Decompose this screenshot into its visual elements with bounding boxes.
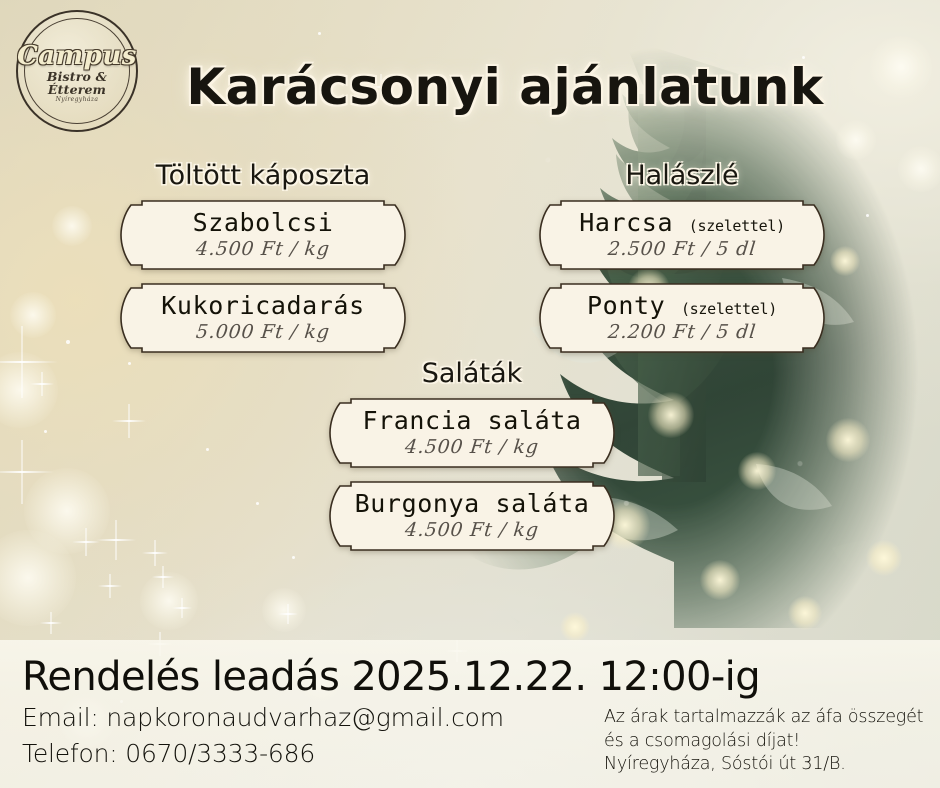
page-title: Karácsonyi ajánlatunk xyxy=(0,58,940,116)
dish-name: Szabolcsi xyxy=(193,210,334,236)
card-content: Burgonya saláta 4.500 Ft / kg xyxy=(327,479,617,553)
dish-name: Francia saláta xyxy=(362,408,581,434)
dish-price: 2.500 Ft / 5 dl xyxy=(607,238,757,260)
dish-suffix: (szelettel) xyxy=(681,300,777,318)
contact-phone[interactable]: Telefon: 0670/3333-686 xyxy=(22,739,315,768)
card-content: Ponty (szelettel) 2.200 Ft / 5 dl xyxy=(537,281,827,355)
dish-suffix: (szelettel) xyxy=(689,217,785,235)
footer: Rendelés leadás 2025.12.22. 12:00-ig Ema… xyxy=(0,640,940,788)
dish-name: Harcsa xyxy=(579,208,673,237)
dish-price: 4.500 Ft / kg xyxy=(404,519,540,541)
section-heading-halaszle: Halászlé xyxy=(537,160,827,191)
menu-card[interactable]: Ponty (szelettel) 2.200 Ft / 5 dl xyxy=(537,281,827,355)
price-note-line2: és a csomagolási díjat! xyxy=(604,730,923,754)
dish-name: Burgonya saláta xyxy=(355,491,590,517)
card-content: Szabolcsi 4.500 Ft / kg xyxy=(118,198,408,272)
menu-card[interactable]: Burgonya saláta 4.500 Ft / kg xyxy=(327,479,617,553)
card-content: Francia saláta 4.500 Ft / kg xyxy=(327,396,617,470)
section-heading-toltott-kaposzta: Töltött káposzta xyxy=(118,160,408,191)
dish-price: 2.200 Ft / 5 dl xyxy=(607,321,757,343)
dish-name-row: Ponty (szelettel) xyxy=(587,293,777,319)
price-note-line1: Az árak tartalmazzák az áfa összegét xyxy=(604,706,923,730)
menu-card[interactable]: Kukoricadarás 5.000 Ft / kg xyxy=(118,281,408,355)
dish-price: 4.500 Ft / kg xyxy=(195,238,331,260)
dish-name: Ponty xyxy=(587,291,665,320)
dish-name-row: Harcsa (szelettel) xyxy=(579,210,785,236)
card-content: Kukoricadarás 5.000 Ft / kg xyxy=(118,281,408,355)
section-heading-salatak: Saláták xyxy=(327,358,617,389)
christmas-menu-poster: Campus Bistro & Étterem Nyíregyháza Kará… xyxy=(0,0,940,788)
address-line: Nyíregyháza, Sóstói út 31/B. xyxy=(604,753,923,777)
card-content: Harcsa (szelettel) 2.500 Ft / 5 dl xyxy=(537,198,827,272)
menu-card[interactable]: Harcsa (szelettel) 2.500 Ft / 5 dl xyxy=(537,198,827,272)
price-note: Az árak tartalmazzák az áfa összegét és … xyxy=(604,706,923,777)
menu-card[interactable]: Szabolcsi 4.500 Ft / kg xyxy=(118,198,408,272)
menu-card[interactable]: Francia saláta 4.500 Ft / kg xyxy=(327,396,617,470)
dish-name: Kukoricadarás xyxy=(161,293,364,319)
dish-price: 4.500 Ft / kg xyxy=(404,436,540,458)
dish-price: 5.000 Ft / kg xyxy=(195,321,331,343)
order-deadline: Rendelés leadás 2025.12.22. 12:00-ig xyxy=(22,654,760,700)
contact-email[interactable]: Email: napkoronaudvarhaz@gmail.com xyxy=(22,703,504,732)
